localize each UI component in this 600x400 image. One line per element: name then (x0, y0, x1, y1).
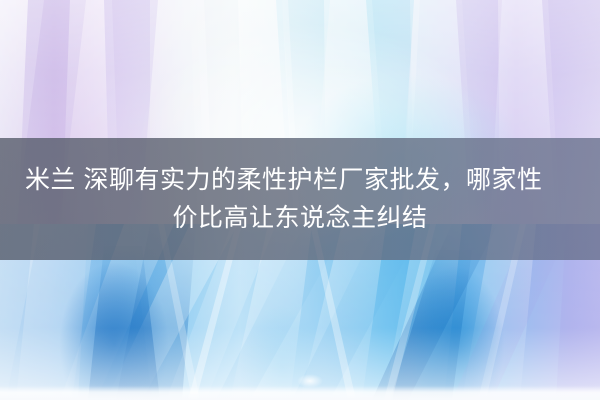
caption-line-2: 价比高让东说念主纠结 (172, 199, 427, 237)
bottom-light-edge (0, 386, 600, 400)
caption-line-1: 米兰 深聊有实力的柔性护栏厂家批发，哪家性 (14, 161, 542, 199)
promo-banner: 米兰 深聊有实力的柔性护栏厂家批发，哪家性 价比高让东说念主纠结 (0, 0, 600, 400)
caption-band: 米兰 深聊有实力的柔性护栏厂家批发，哪家性 价比高让东说念主纠结 (0, 138, 600, 260)
